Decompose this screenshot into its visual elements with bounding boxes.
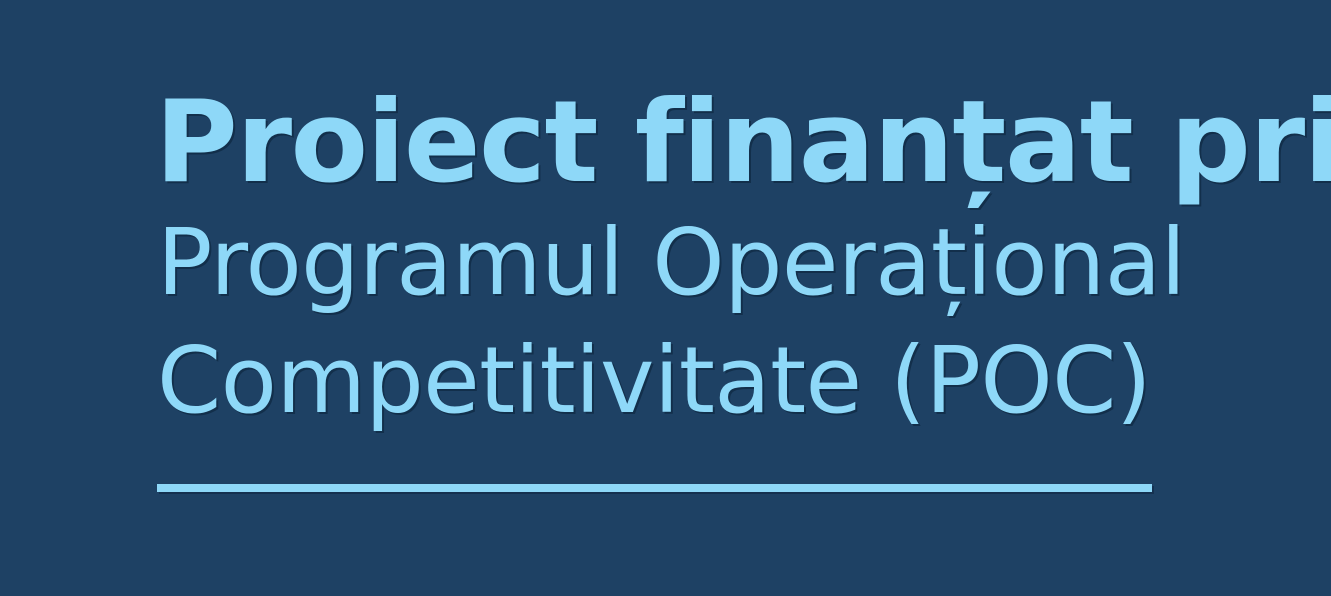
headline-line-2: Programul Operațional — [157, 204, 1167, 322]
headline-block: Proiect finanțat prin Programul Operațio… — [157, 80, 1167, 440]
horizontal-rule-divider — [157, 484, 1152, 492]
funding-banner: Proiect finanțat prin Programul Operațio… — [0, 0, 1331, 596]
headline-line-3: Competitivitate (POC) — [157, 322, 1167, 440]
headline-line-1: Proiect finanțat prin — [155, 80, 1167, 204]
